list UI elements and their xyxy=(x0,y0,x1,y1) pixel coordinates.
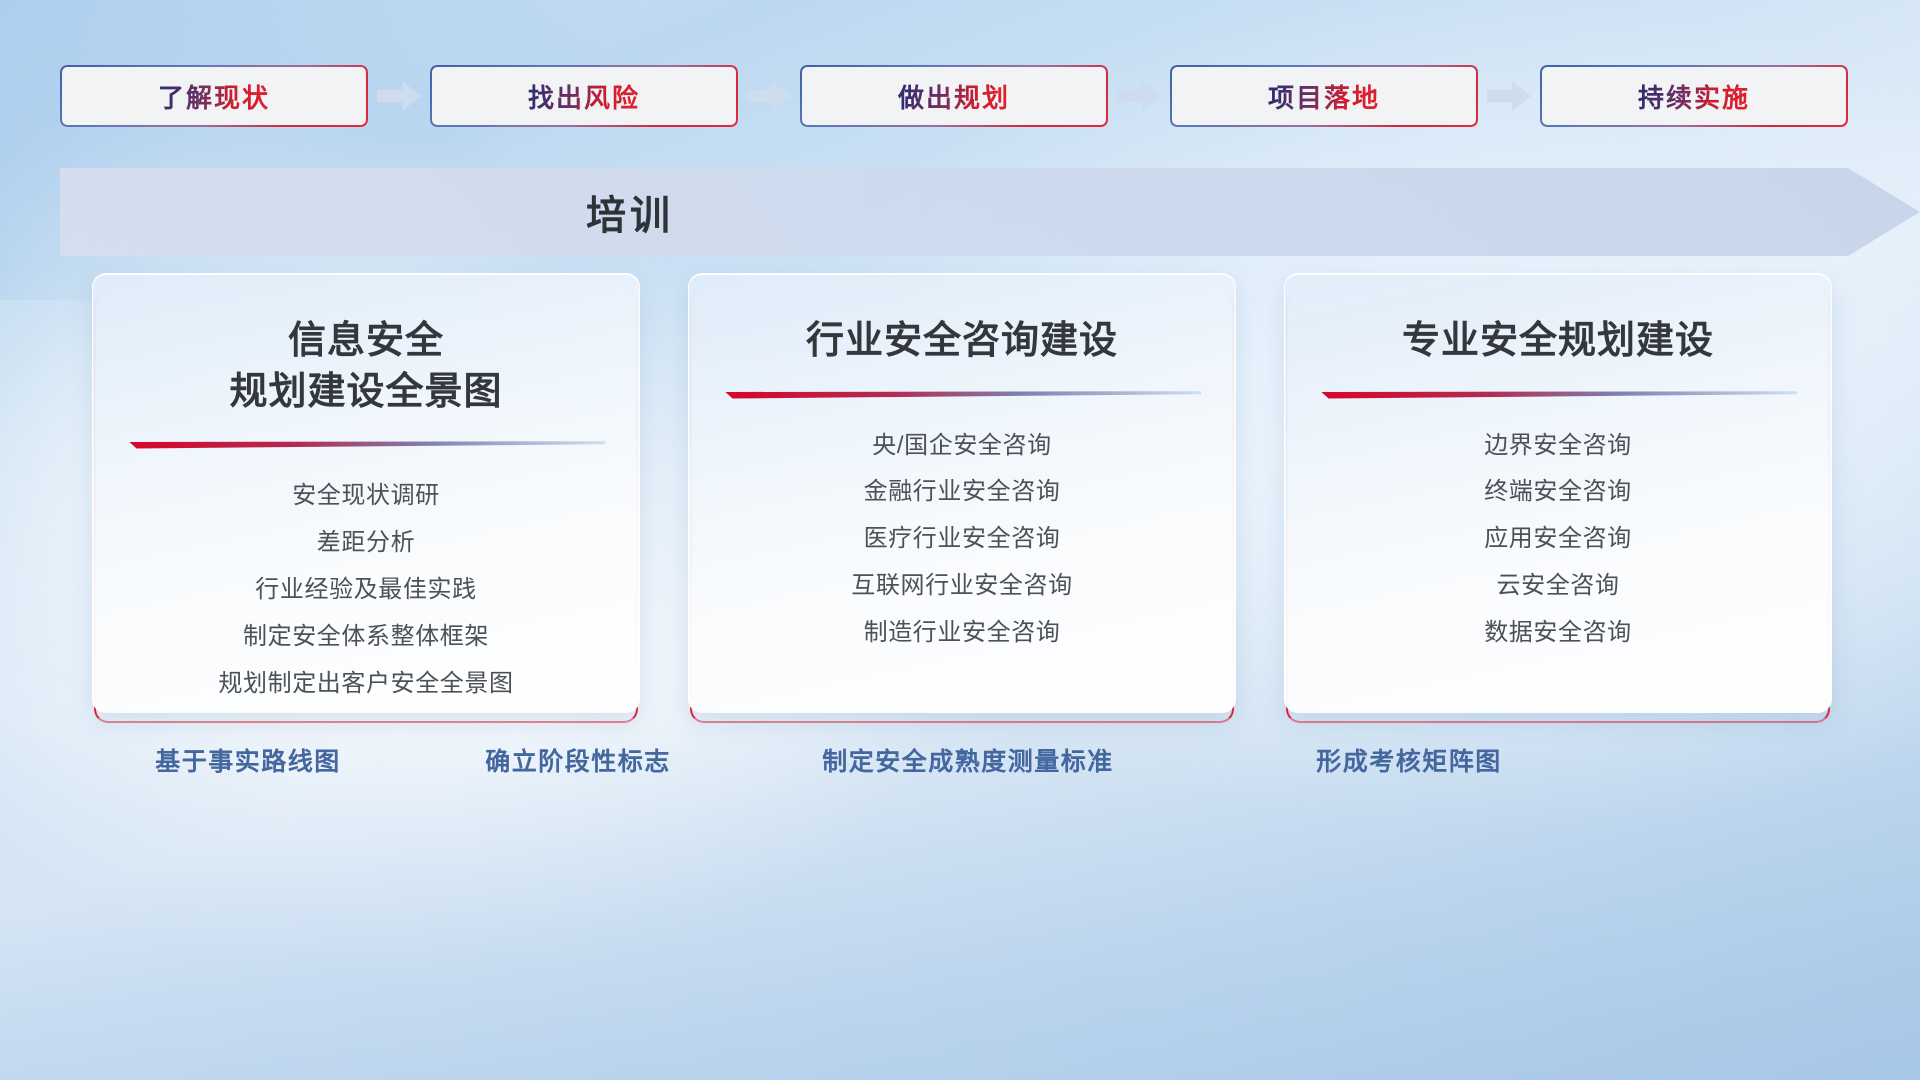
card-list-3: 边界安全咨询 终端安全咨询 应用安全咨询 云安全咨询 数据安全咨询 xyxy=(1319,427,1797,653)
card-2[interactable]: 行业安全咨询建设 xyxy=(688,273,1236,713)
list-item: 应用安全咨询 xyxy=(1484,520,1632,559)
list-item: 数据安全咨询 xyxy=(1484,614,1632,653)
step-label-5: 持续实施 xyxy=(1638,78,1750,115)
card-title-3: 专业安全规划建设 xyxy=(1319,316,1797,367)
list-item: 边界安全咨询 xyxy=(1484,427,1632,466)
footer-label-3: 制定安全成熟度测量标准 xyxy=(822,742,1114,778)
step-box-4[interactable]: 项目落地 xyxy=(1170,65,1478,127)
card-wrap-2: 行业安全咨询建设 xyxy=(688,273,1236,713)
footer-label-1: 基于事实路线图 xyxy=(155,742,341,778)
card-list-1: 安全现状调研 差距分析 行业经验及最佳实践 制定安全体系整体框架 规划制定出客户… xyxy=(127,477,605,703)
arrow-right-icon xyxy=(1108,79,1170,113)
slide-canvas: 了解现状 找出风险 做出规划 项目落地 xyxy=(0,0,1920,1080)
list-item: 制定安全体系整体框架 xyxy=(243,618,489,657)
process-steps: 了解现状 找出风险 做出规划 项目落地 xyxy=(60,64,1860,128)
step-label-2: 找出风险 xyxy=(528,78,640,115)
training-banner: 培训 xyxy=(60,168,1920,256)
list-item: 行业经验及最佳实践 xyxy=(255,571,476,610)
step-box-2[interactable]: 找出风险 xyxy=(430,65,738,127)
card-row: 信息安全 规划建设全景图 xyxy=(92,273,1832,713)
list-item: 规划制定出客户安全全景图 xyxy=(218,665,513,704)
step-box-3[interactable]: 做出规划 xyxy=(800,65,1108,127)
list-item: 制造行业安全咨询 xyxy=(864,614,1061,653)
card-title-2: 行业安全咨询建设 xyxy=(723,316,1201,367)
card-wrap-3: 专业安全规划建设 xyxy=(1284,273,1832,713)
list-item: 医疗行业安全咨询 xyxy=(864,520,1061,559)
arrow-right-icon xyxy=(738,79,800,113)
step-box-5[interactable]: 持续实施 xyxy=(1540,65,1848,127)
card-wrap-1: 信息安全 规划建设全景图 xyxy=(92,273,640,713)
card-divider-1 xyxy=(127,439,605,451)
card-list-2: 央/国企安全咨询 金融行业安全咨询 医疗行业安全咨询 互联网行业安全咨询 制造行… xyxy=(723,427,1201,653)
list-item: 安全现状调研 xyxy=(292,477,440,516)
card-3[interactable]: 专业安全规划建设 xyxy=(1284,273,1832,713)
arrow-right-icon xyxy=(1478,79,1540,113)
step-label-1: 了解现状 xyxy=(158,78,270,115)
card-divider-3 xyxy=(1319,389,1797,401)
footer-label-4: 形成考核矩阵图 xyxy=(1316,742,1502,778)
list-item: 互联网行业安全咨询 xyxy=(851,567,1072,606)
list-item: 差距分析 xyxy=(317,524,415,563)
banner-title: 培训 xyxy=(60,168,1920,256)
step-label-3: 做出规划 xyxy=(898,78,1010,115)
card-divider-2 xyxy=(723,389,1201,401)
list-item: 终端安全咨询 xyxy=(1484,473,1632,512)
footer-label-row: 基于事实路线图 确立阶段性标志 制定安全成熟度测量标准 形成考核矩阵图 xyxy=(0,742,1920,794)
step-box-1[interactable]: 了解现状 xyxy=(60,65,368,127)
list-item: 云安全咨询 xyxy=(1497,567,1620,606)
list-item: 央/国企安全咨询 xyxy=(872,427,1051,466)
step-label-4: 项目落地 xyxy=(1268,78,1380,115)
footer-label-2: 确立阶段性标志 xyxy=(485,742,671,778)
card-title-1: 信息安全 规划建设全景图 xyxy=(127,316,605,417)
list-item: 金融行业安全咨询 xyxy=(864,473,1061,512)
arrow-right-icon xyxy=(368,79,430,113)
card-1[interactable]: 信息安全 规划建设全景图 xyxy=(92,273,640,713)
